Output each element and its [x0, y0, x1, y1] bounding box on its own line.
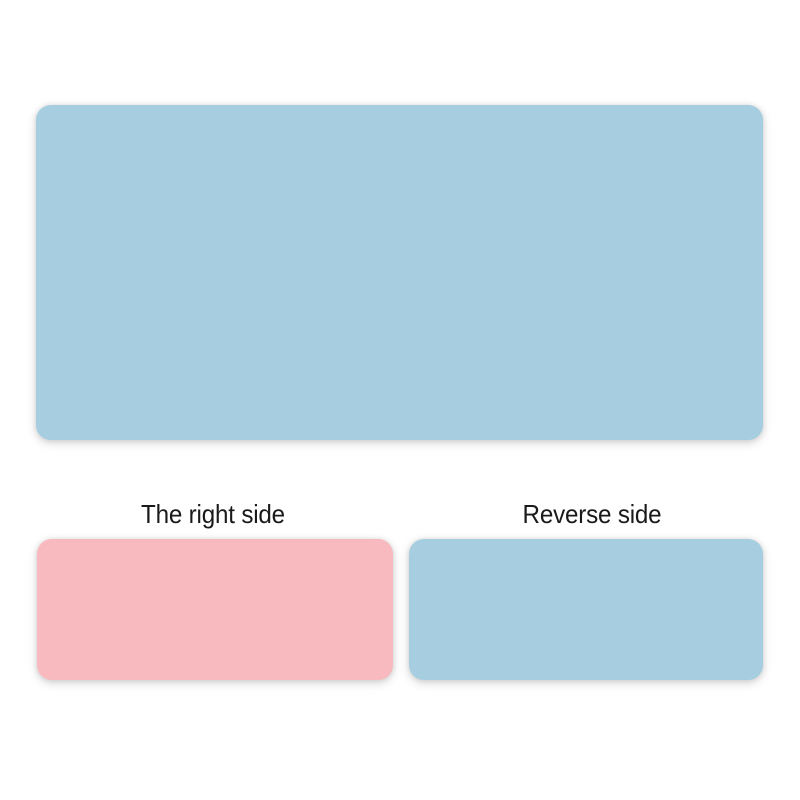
main-fabric-swatch[interactable]	[36, 105, 763, 440]
front-side-swatch[interactable]	[37, 539, 393, 680]
reverse-side-caption: Reverse side	[453, 499, 732, 529]
swatch-comparison-canvas: The right side Reverse side	[0, 0, 800, 800]
front-side-caption: The right side	[74, 499, 353, 529]
reverse-side-swatch[interactable]	[409, 539, 763, 680]
